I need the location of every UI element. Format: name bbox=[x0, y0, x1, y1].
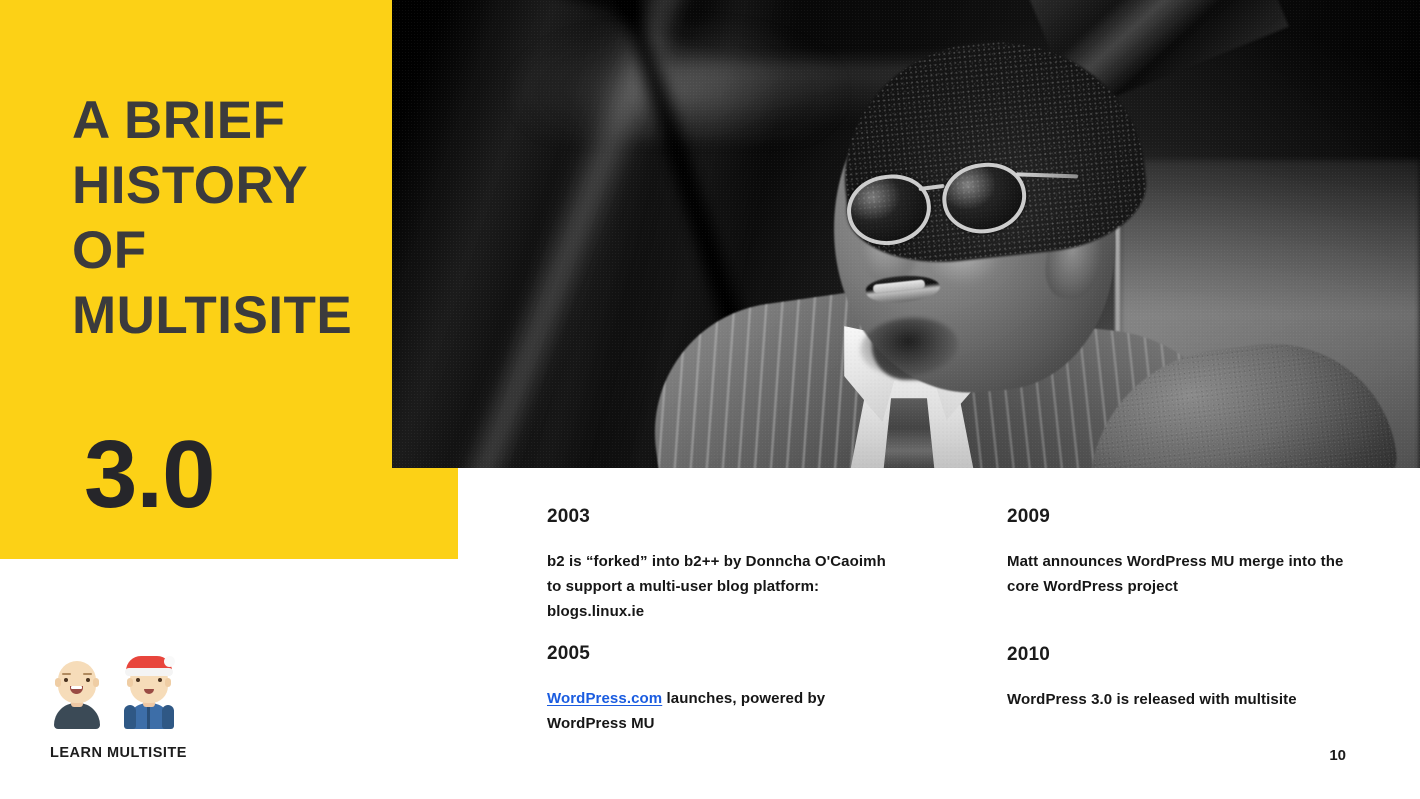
page-number: 10 bbox=[1329, 747, 1346, 764]
avatar-group bbox=[50, 665, 187, 729]
santa-hat-brim bbox=[125, 668, 173, 676]
avatar-zipper bbox=[147, 705, 150, 729]
avatar-ear bbox=[55, 678, 61, 687]
avatar-eyebrow bbox=[62, 673, 71, 676]
timeline-year: 2010 bbox=[1007, 643, 1357, 667]
avatar-eye bbox=[158, 678, 162, 682]
timeline-column-right: 2009 Matt announces WordPress MU merge i… bbox=[1007, 505, 1357, 736]
timeline-year: 2005 bbox=[547, 642, 897, 666]
sunglasses-bridge bbox=[918, 184, 944, 191]
title-line-1: A BRIEF bbox=[72, 88, 412, 153]
avatar-ear bbox=[165, 678, 171, 687]
timeline-column-left: 2003 b2 is “forked” into b2++ by Donncha… bbox=[547, 505, 897, 736]
santa-hat-pompom bbox=[164, 656, 175, 667]
title-line-4: MULTISITE bbox=[72, 283, 412, 348]
timeline-description: WordPress.com launches, powered by WordP… bbox=[547, 686, 897, 736]
avatar-teeth bbox=[71, 686, 82, 689]
title-line-2: HISTORY bbox=[72, 153, 412, 218]
photo-canvas bbox=[392, 0, 1420, 468]
photo-subject bbox=[392, 0, 1420, 468]
page-title: A BRIEF HISTORY OF MULTISITE bbox=[72, 88, 412, 348]
timeline-description: b2 is “forked” into b2++ by Donncha O'Ca… bbox=[547, 549, 897, 624]
avatar-eye bbox=[64, 678, 68, 682]
wordpress-com-link[interactable]: WordPress.com bbox=[547, 690, 662, 707]
avatar-bald-person-icon bbox=[50, 665, 104, 729]
avatar-eyebrow bbox=[83, 673, 92, 676]
timeline-entry-2009: 2009 Matt announces WordPress MU merge i… bbox=[1007, 505, 1357, 599]
timeline-entry-2010: 2010 WordPress 3.0 is released with mult… bbox=[1007, 643, 1357, 712]
slide-root: A BRIEF HISTORY OF MULTISITE 3.0 2003 b2… bbox=[0, 0, 1420, 799]
timeline-year: 2003 bbox=[547, 505, 897, 529]
sunglasses-temple bbox=[1016, 172, 1078, 178]
title-line-3: OF bbox=[72, 218, 412, 283]
avatar-ear bbox=[93, 678, 99, 687]
timeline-description: WordPress 3.0 is released with multisite bbox=[1007, 687, 1357, 712]
timeline-entry-2005: 2005 WordPress.com launches, powered by … bbox=[547, 642, 897, 736]
timeline-entry-2003: 2003 b2 is “forked” into b2++ by Donncha… bbox=[547, 505, 897, 624]
avatar-head bbox=[58, 661, 96, 703]
brand-logo: LEARN MULTISITE bbox=[50, 665, 187, 761]
avatar-eye bbox=[136, 678, 140, 682]
avatar-santa-hat-person-icon bbox=[122, 665, 176, 729]
avatar-ear bbox=[127, 678, 133, 687]
avatar-hood-strap bbox=[124, 705, 136, 729]
brand-name: LEARN MULTISITE bbox=[50, 745, 187, 761]
timeline-year: 2009 bbox=[1007, 505, 1357, 529]
timeline-description: Matt announces WordPress MU merge into t… bbox=[1007, 549, 1357, 599]
hero-photograph bbox=[392, 0, 1420, 468]
version-number: 3.0 bbox=[84, 425, 214, 525]
avatar-hood-strap bbox=[162, 705, 174, 729]
avatar-eye bbox=[86, 678, 90, 682]
timeline: 2003 b2 is “forked” into b2++ by Donncha… bbox=[547, 505, 1367, 736]
